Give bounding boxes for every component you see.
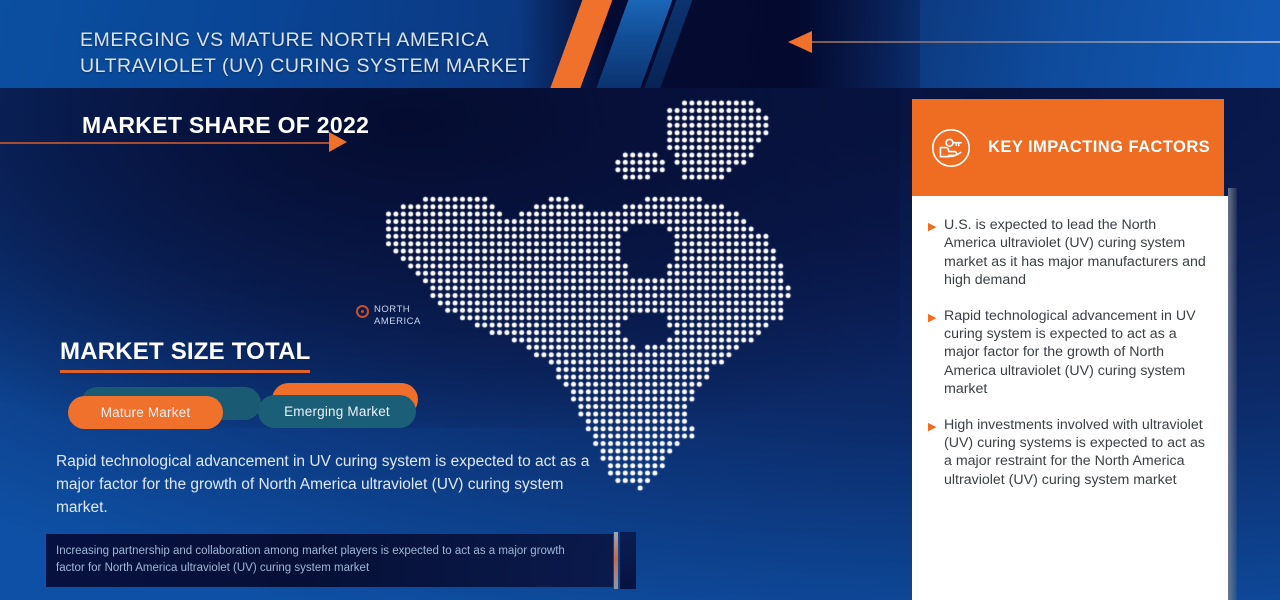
legend-item-emerging-market[interactable]: Emerging Market [258,395,416,428]
list-item: ▶ Rapid technological advancement in UV … [912,307,1228,399]
bullet-arrow-icon: ▶ [928,416,944,490]
list-item: ▶ High investments involved with ultravi… [912,416,1228,490]
bullet-arrow-icon: ▶ [928,307,944,399]
footer-note: Increasing partnership and collaboration… [56,543,586,577]
right-arrow-icon [329,132,347,152]
footer-divider [614,532,618,589]
market-size-rule [60,370,310,373]
north-america-dot-map [370,92,800,492]
header-arrow-line [812,41,1280,43]
market-size-title: MARKET SIZE TOTAL [60,338,311,366]
market-share-rule [0,142,330,144]
left-arrow-icon [788,31,812,53]
market-share-label: MARKET SHARE OF 2022 [82,112,369,139]
key-factors-title: KEY IMPACTING FACTORS [988,138,1210,157]
list-item-text: High investments involved with ultraviol… [944,416,1210,490]
key-factors-header: KEY IMPACTING FACTORS [912,99,1224,196]
list-item-text: Rapid technological advancement in UV cu… [944,307,1210,399]
legend-item-mature-market[interactable]: Mature Market [68,396,223,429]
map-region-label: NORTH AMERICA [374,304,421,328]
market-size-description: Rapid technological advancement in UV cu… [56,450,604,519]
infographic-root: EMERGING VS MATURE NORTH AMERICA ULTRAVI… [0,0,1280,600]
list-item-text: U.S. is expected to lead the North Ameri… [944,216,1210,290]
bullet-arrow-icon: ▶ [928,216,944,290]
footer-accent-block [620,532,636,589]
page-title: EMERGING VS MATURE NORTH AMERICA ULTRAVI… [80,27,530,79]
list-item: ▶ U.S. is expected to lead the North Ame… [912,216,1228,290]
key-factors-list: ▶ U.S. is expected to lead the North Ame… [912,216,1228,506]
key-factors-panel-shadow [1228,188,1237,600]
hand-holding-key-icon [928,125,974,171]
target-marker-icon [356,305,369,318]
